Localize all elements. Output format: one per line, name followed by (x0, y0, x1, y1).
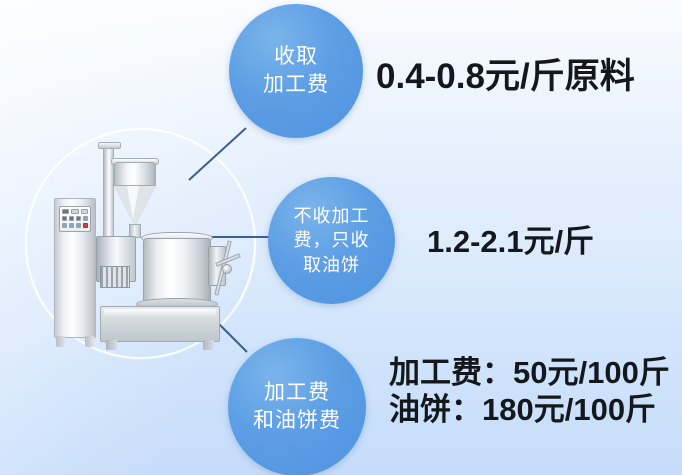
option-bubble-1[interactable]: 收取 加工费 (229, 4, 363, 138)
switch-icon-4 (83, 216, 88, 221)
option-bubble-1-line-2: 加工费 (263, 71, 329, 99)
control-panel-row-switches (62, 216, 88, 221)
button-icon-1 (62, 223, 67, 228)
machine-gearbox-fins (100, 266, 130, 288)
option-bubble-2-line-1: 不收加工 (294, 204, 370, 228)
button-icon-3 (76, 223, 81, 228)
option-value-3-line-1: 加工费：50元/100斤 (389, 355, 670, 392)
display-screen-icon (62, 209, 69, 214)
machine-cabinet-foot-right (85, 336, 94, 347)
meter-icon (71, 209, 78, 214)
emergency-stop-icon (83, 223, 88, 228)
option-value-2: 1.2-2.1元/斤 (427, 216, 594, 261)
option-bubble-3[interactable]: 加工费 和油饼费 (228, 338, 366, 475)
machine-hopper-cone-highlight (127, 186, 139, 220)
gauge-icon (81, 209, 88, 214)
machine-cabinet-foot-left (56, 336, 65, 347)
option-bubble-3-line-1: 加工费 (264, 379, 330, 407)
option-bubble-2-line-3: 取油饼 (303, 253, 360, 277)
machine-foot-left (106, 340, 117, 350)
switch-icon-2 (69, 216, 74, 221)
control-panel-row-display (62, 209, 88, 214)
machine-mast-top (98, 142, 121, 149)
switch-icon-1 (62, 216, 67, 221)
infographic-canvas: 收取 加工费 0.4-0.8元/斤原料 不收加工 费，只收 取油饼 1.2-2.… (0, 0, 682, 475)
option-bubble-2[interactable]: 不收加工 费，只收 取油饼 (268, 177, 395, 304)
machine-hopper-cylinder (114, 162, 156, 186)
option-value-2-line-1: 1.2-2.1元/斤 (427, 224, 594, 259)
option-value-3: 加工费：50元/100斤 油饼：180元/100斤 (389, 355, 670, 428)
option-bubble-1-line-1: 收取 (274, 43, 318, 71)
machine-control-panel (59, 206, 91, 232)
button-icon-2 (69, 223, 74, 228)
option-value-3-line-2: 油饼：180元/100斤 (389, 392, 670, 429)
control-panel-row-buttons (62, 223, 88, 228)
option-bubble-2-line-2: 费，只收 (294, 228, 370, 252)
machine-drum (143, 238, 211, 302)
machine-handwheel-hub (222, 264, 232, 274)
switch-icon-3 (76, 216, 81, 221)
option-value-1: 0.4-0.8元/斤原料 (376, 48, 635, 99)
oil-press-machine-image (48, 140, 238, 350)
machine-base-highlight (104, 309, 216, 317)
machine-foot-right (203, 340, 214, 350)
option-value-1-line-1: 0.4-0.8元/斤原料 (376, 57, 635, 96)
option-bubble-3-line-2: 和油饼费 (253, 407, 341, 435)
